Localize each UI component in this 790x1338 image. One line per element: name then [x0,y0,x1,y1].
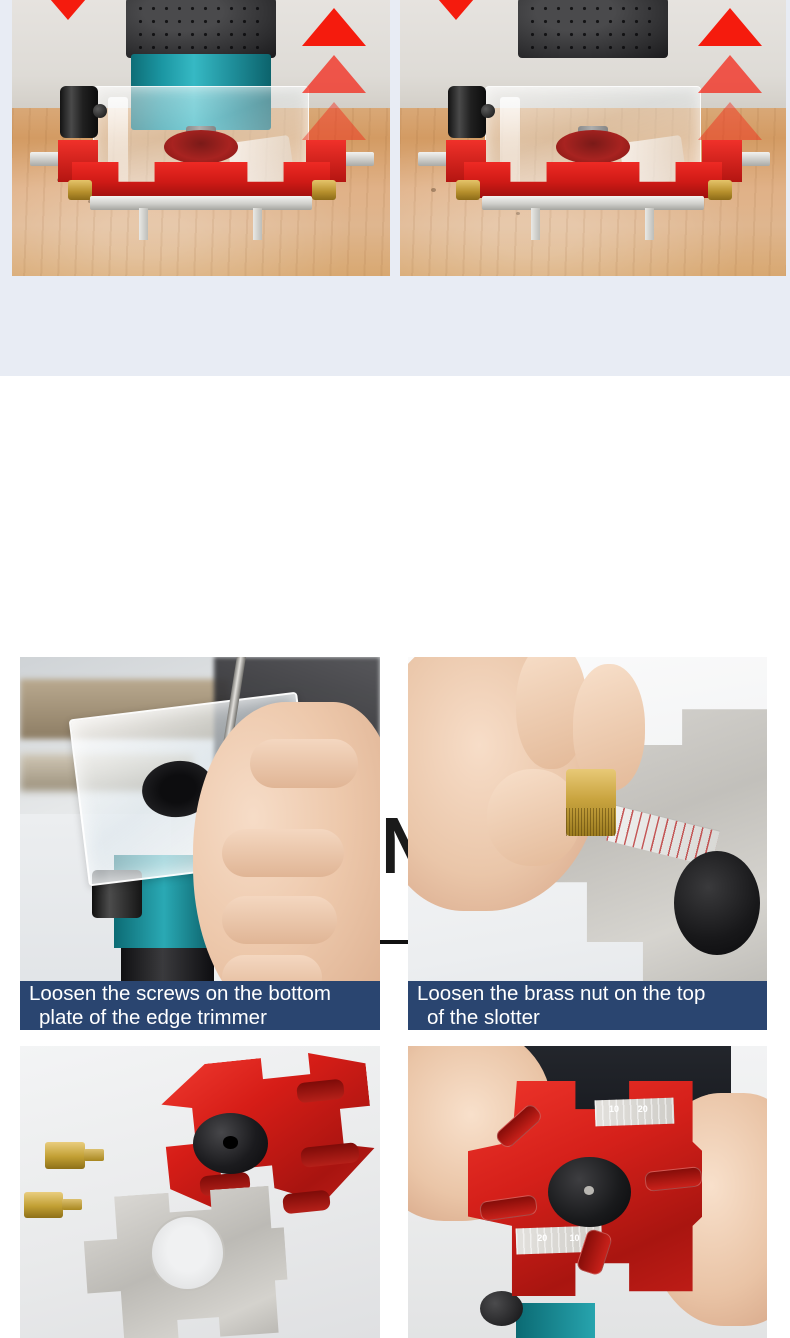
base-plate-hole [150,1215,226,1291]
step-4-photo: 10 20 20 10 [408,1046,767,1338]
brass-nut [566,769,616,836]
chevron-up-icon [698,102,762,140]
step-2-caption: Loosen the brass nut on the top of the s… [408,981,767,1030]
step-card-3 [20,1046,380,1338]
silver-leg [645,208,654,240]
router-motor-grip [518,0,668,58]
product-instruction-page: OPERATION STEPS [0,0,790,1338]
section-header: OPERATION STEPS [0,376,790,657]
black-centre-disc [674,851,760,955]
caption-line-1: Loosen the screws on the bottom [29,982,331,1005]
scale-number: 10 [609,1104,619,1114]
jig-centre-hole [556,130,630,164]
step-card-4: 10 20 20 10 [408,1046,767,1338]
step-2-photo [408,657,767,1030]
depth-adjust-knob [480,1291,523,1326]
finger [250,739,358,787]
router-teal-body [516,1303,595,1338]
bench-mark [431,188,436,192]
brass-nut-left [68,180,92,200]
red-jig-plate [464,162,722,198]
chevron-up-icon [302,102,366,140]
caption-line-2: of the slotter [417,1006,759,1030]
silver-leg [253,208,262,240]
chevron-up-icon [698,8,762,46]
measuring-scale-top [594,1097,674,1126]
step-card-1: Loosen the screws on the bottom plate of… [20,657,380,1030]
silver-base-plate [482,196,704,210]
step-3-photo [20,1046,380,1338]
router-motor-grip [126,0,276,58]
finger [222,829,344,877]
caption-line-2: plate of the edge trimmer [29,1006,372,1030]
chevron-up-icon [302,8,366,46]
brass-nut-left [456,180,480,200]
chevron-up-icon [302,55,366,93]
finger [222,896,337,944]
silver-leg [139,208,148,240]
scale-number: 20 [638,1104,648,1114]
brass-thumb-screw [45,1142,85,1168]
chevron-down-icon [420,0,492,20]
scale-number: 20 [537,1233,547,1243]
hero-image-router-raised [400,0,786,276]
brass-thumb-screw [24,1192,64,1218]
brass-nut-right [708,180,732,200]
hero-image-router-lowered [12,0,390,276]
bench-mark [516,212,520,215]
step-card-2: Loosen the brass nut on the top of the s… [408,657,767,1030]
silver-base-plate [90,196,312,210]
red-jig-plate [72,162,330,198]
caption-line-1: Loosen the brass nut on the top [417,982,705,1005]
black-centre-disc [548,1157,631,1227]
depth-adjust-knob [448,86,486,138]
chevron-down-icon [32,0,104,20]
step-1-caption: Loosen the screws on the bottom plate of… [20,981,380,1030]
hero-section [0,0,790,376]
silver-leg [531,208,540,240]
step-1-photo [20,657,380,1030]
depth-adjust-knob [60,86,98,138]
chevron-up-icon [698,55,762,93]
jig-centre-hole [164,130,238,164]
brass-nut-right [312,180,336,200]
scale-number: 10 [570,1233,580,1243]
